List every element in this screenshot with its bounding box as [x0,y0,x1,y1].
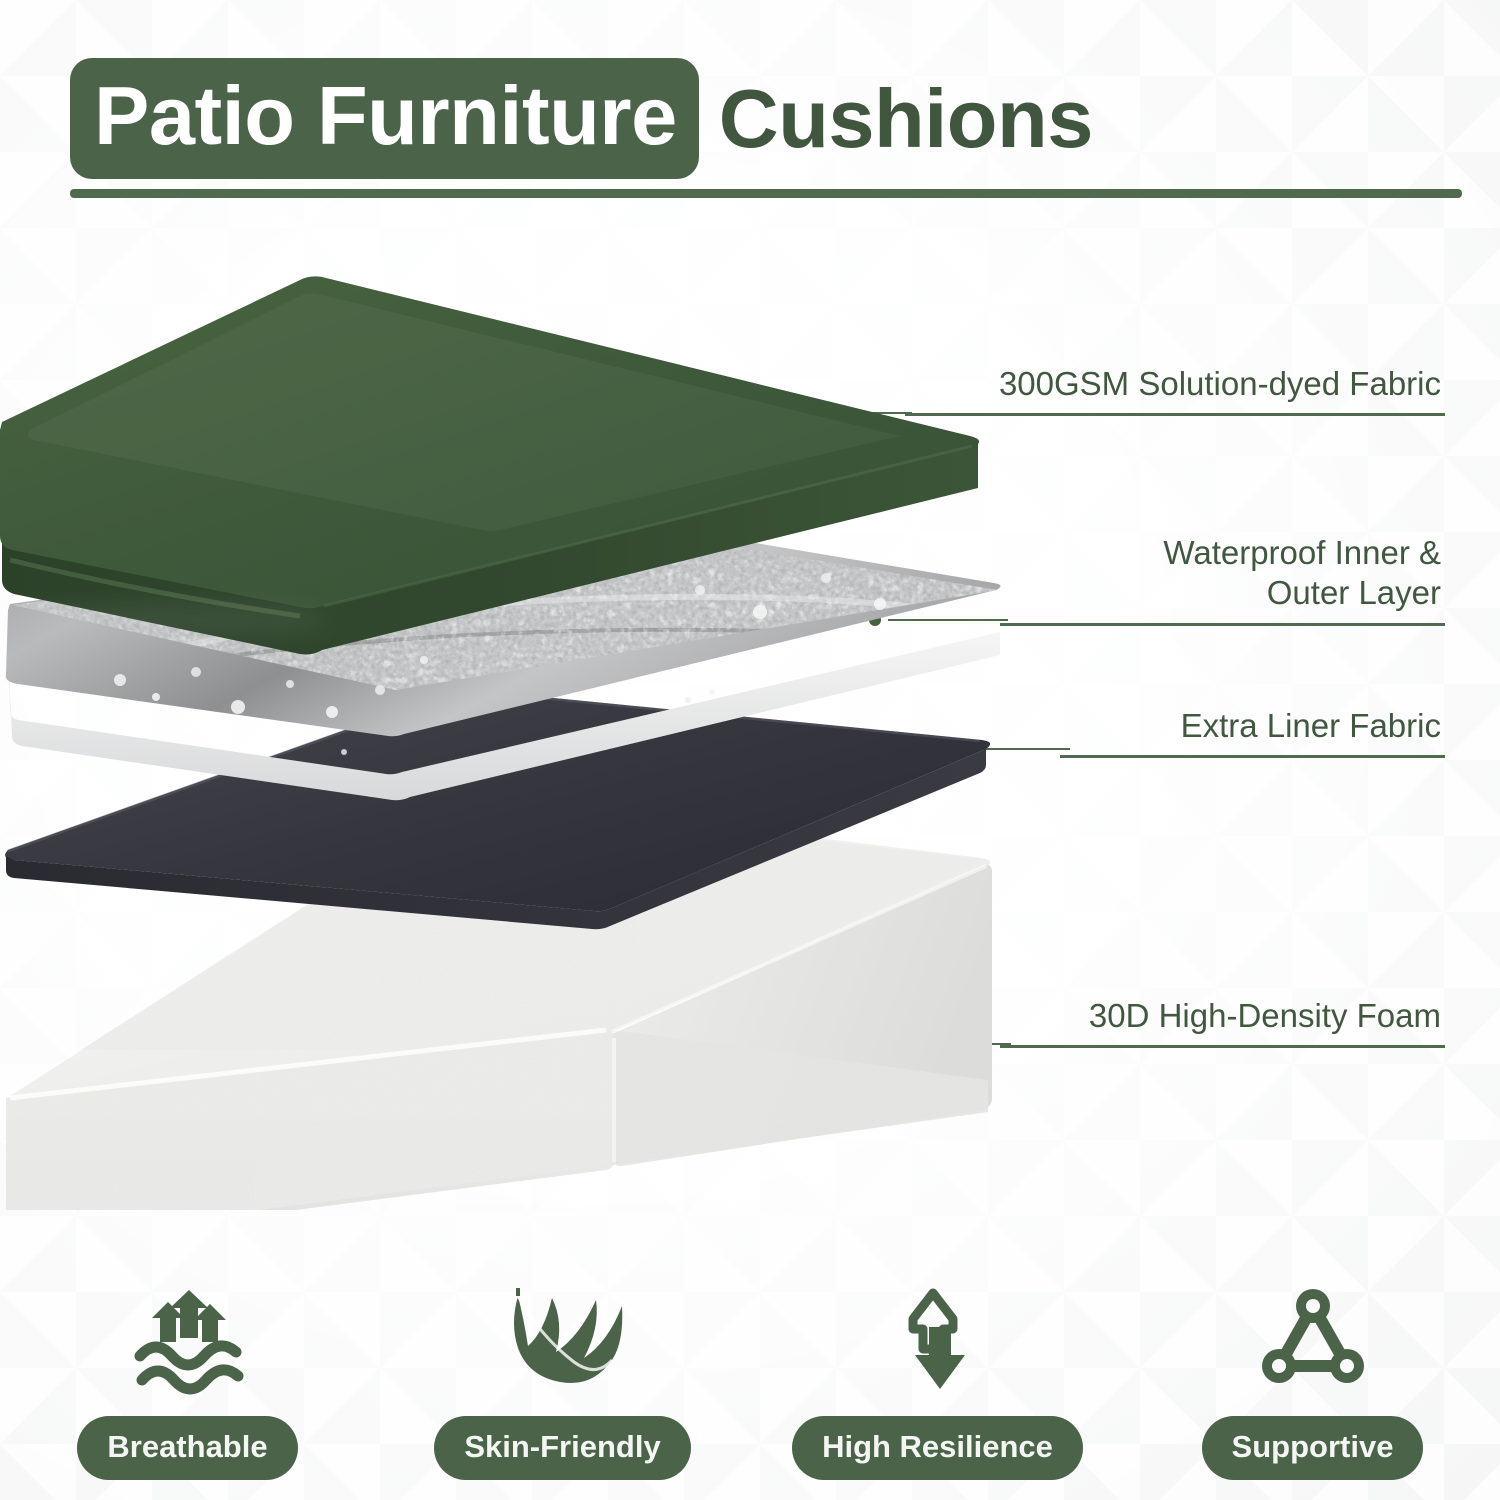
callout-text-foam: 30D High-Density Foam [1000,996,1445,1036]
up-down-arrows-icon [883,1277,993,1402]
feature-label-supportive[interactable]: Supportive [1202,1416,1424,1480]
page-title: Patio Furniture Cushions [70,58,1470,198]
title-badge: Patio Furniture [70,58,699,179]
exploded-layer-diagram [0,260,1010,1210]
callout-label-fabric: 300GSM Solution-dyed Fabric [905,364,1445,416]
callout-underline-waterproof [1000,623,1445,626]
feature-label-breathable[interactable]: Breathable [77,1416,297,1480]
callout-label-liner: Extra Liner Fabric [1060,706,1445,758]
title-tail: Cushions [699,77,1093,160]
callout-underline-fabric [905,413,1445,416]
feature-skin-friendly[interactable]: Skin-Friendly [375,1250,750,1480]
feature-high-resilience[interactable]: High Resilience [750,1250,1125,1480]
callout-underline-liner [1060,755,1445,758]
feature-label-high-resilience[interactable]: High Resilience [792,1416,1083,1480]
title-underline [70,189,1462,198]
feature-supportive[interactable]: Supportive [1125,1250,1500,1480]
callout-text-fabric: 300GSM Solution-dyed Fabric [905,364,1445,404]
feature-breathable[interactable]: Breathable [0,1250,375,1480]
feature-label-skin-friendly[interactable]: Skin-Friendly [434,1416,690,1480]
callout-text-waterproof: Waterproof Inner & Outer Layer [1000,533,1445,614]
feather-icon [488,1277,638,1402]
arrows-up-over-waves-icon [124,1277,252,1402]
triangle-nodes-icon [1253,1277,1373,1402]
callout-text-liner: Extra Liner Fabric [1060,706,1445,746]
callout-label-foam: 30D High-Density Foam [1000,996,1445,1048]
callout-label-waterproof: Waterproof Inner & Outer Layer [1000,533,1445,626]
feature-badge-row: Breathable Skin-Friendly High Resilience [0,1250,1500,1480]
callout-underline-foam [1000,1045,1445,1048]
